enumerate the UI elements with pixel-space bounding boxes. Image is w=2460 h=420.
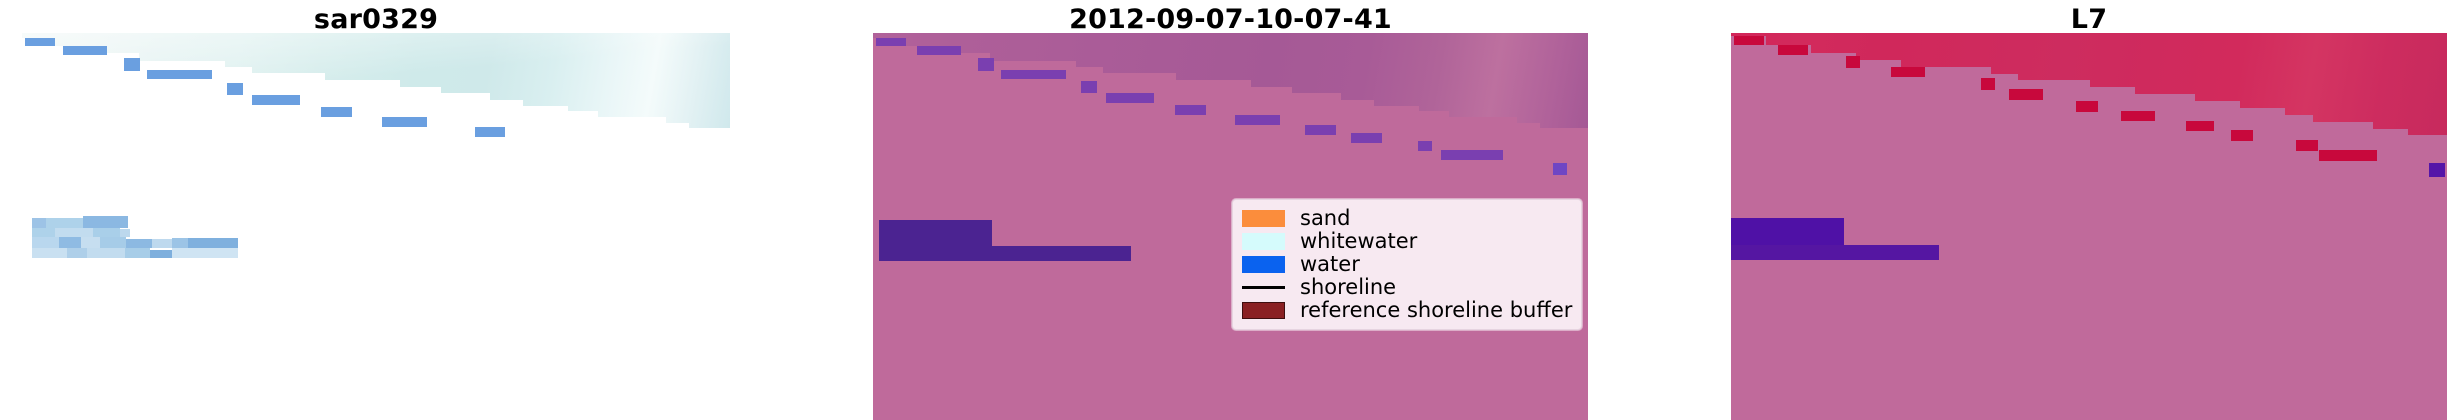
legend-label-water: water [1300,253,1360,276]
legend-label-sand: sand [1300,207,1350,230]
figure-canvas: sar0329 [0,0,2460,420]
land-mask-sar0329 [22,33,730,143]
legend-item-water: water [1242,253,1571,276]
panel-title-sar0329: sar0329 [22,4,730,35]
image-axes-l7 [1731,33,2447,420]
legend-item-whitewater: whitewater [1242,230,1571,253]
panel-title-l7: L7 [1731,4,2447,35]
legend-item-sand: sand [1242,207,1571,230]
panel-2012-09-07-10-07-41: 2012-09-07-10-07-41 [873,0,1588,420]
legend-label-shoreline: shoreline [1300,276,1396,299]
panel-l7: L7 [1731,0,2447,420]
land-mask-l7 [1731,33,2447,143]
reference-buffer-swatch-icon [1242,302,1285,319]
sand-swatch-icon [1242,210,1285,227]
legend-label-whitewater: whitewater [1300,230,1417,253]
legend-label-reference-shoreline-buffer: reference shoreline buffer [1300,299,1572,322]
panel-title-date: 2012-09-07-10-07-41 [873,4,1588,35]
land-mask-date [873,33,1588,143]
water-swatch-icon [1242,256,1285,273]
legend-box: sand whitewater water shoreline referenc… [1232,199,1582,330]
image-axes-sar0329 [22,33,730,420]
shoreline-line-icon [1242,279,1285,296]
legend-item-shoreline: shoreline [1242,276,1571,299]
panel-sar0329: sar0329 [22,0,730,420]
whitewater-swatch-icon [1242,233,1285,250]
legend-item-reference-shoreline-buffer: reference shoreline buffer [1242,299,1571,322]
